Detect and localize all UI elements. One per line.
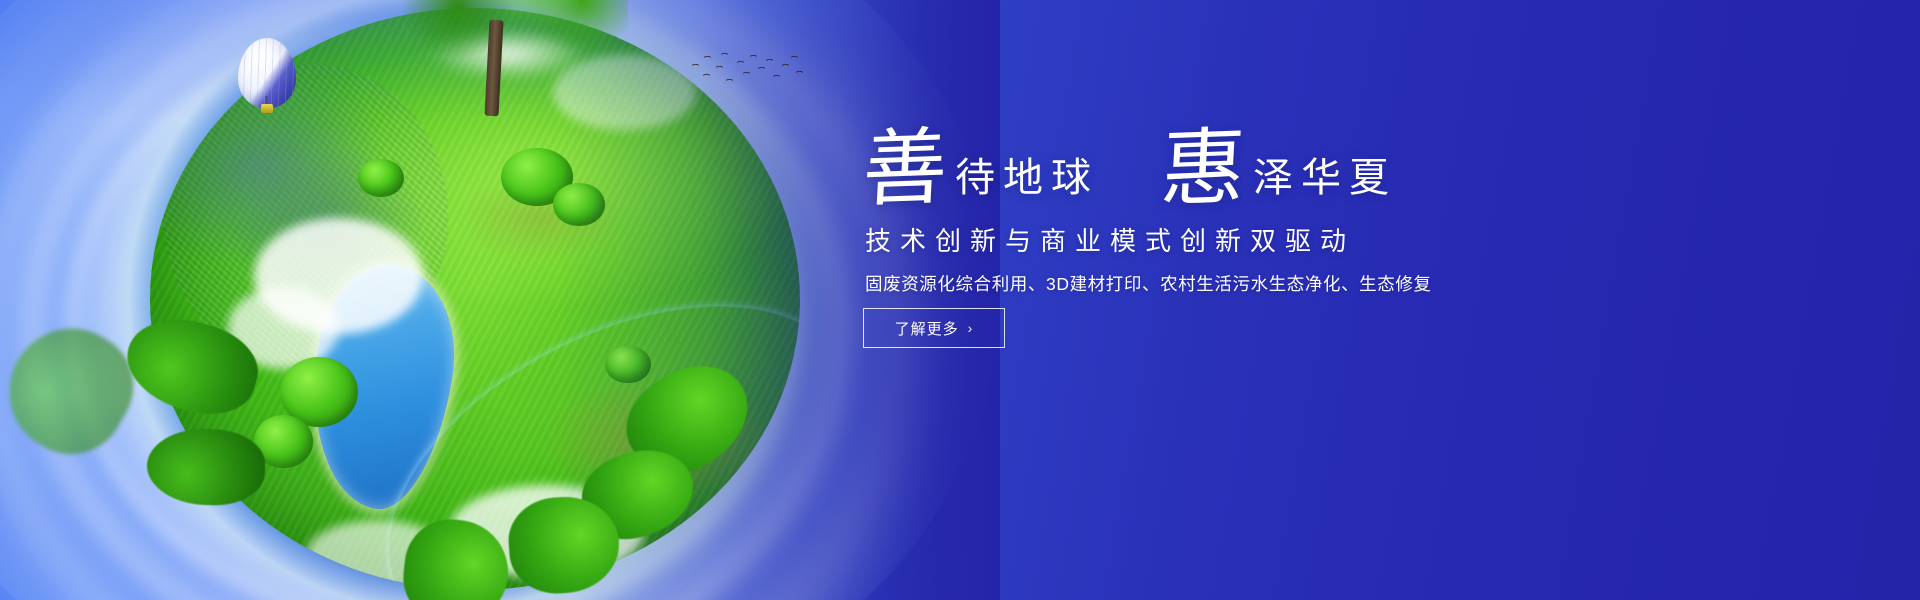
tiny-planet-artwork — [0, 0, 1000, 600]
bird-icon — [775, 75, 781, 79]
headline-char-shan: 善 — [861, 127, 952, 214]
hero-banner: 善 待地球 惠 泽华夏 技术创新与商业模式创新双驱动 固废资源化综合利用、3D建… — [0, 0, 1920, 600]
headline: 善 待地球 惠 泽华夏 — [863, 128, 1397, 232]
subtitle: 技术创新与商业模式创新双驱动 — [865, 228, 1355, 254]
description: 固废资源化综合利用、3D建材打印、农村生活污水生态净化、生态修复 — [865, 272, 1432, 297]
headline-rest-zehuaxia: 泽华夏 — [1253, 158, 1397, 198]
bird-icon — [723, 53, 729, 57]
bird-icon — [798, 71, 804, 75]
balloon-basket — [261, 104, 273, 113]
bird-icon — [793, 56, 799, 60]
chevron-right-icon: › — [968, 321, 974, 335]
bird-icon — [745, 72, 751, 76]
photo-right-blend — [0, 0, 1000, 600]
bird-icon — [768, 59, 774, 63]
bird-icon — [739, 61, 745, 65]
headline-char-hui: 惠 — [1159, 127, 1250, 214]
large-tree-canopy — [398, 0, 628, 64]
learn-more-button[interactable]: 了解更多 › — [863, 308, 1005, 348]
bird-icon — [752, 55, 758, 59]
hero-content: 善 待地球 惠 泽华夏 技术创新与商业模式创新双驱动 固废资源化综合利用、3D建… — [863, 0, 1763, 600]
bird-icon — [760, 67, 766, 71]
bird-icon — [705, 74, 711, 78]
bird-flock-icon — [690, 50, 810, 94]
hot-air-balloon-icon — [238, 38, 296, 108]
headline-rest-daidiqiu: 待地球 — [955, 158, 1099, 198]
bird-icon — [694, 64, 700, 68]
bird-icon — [706, 56, 712, 60]
bird-icon — [718, 66, 724, 70]
bird-icon — [728, 79, 734, 83]
learn-more-label: 了解更多 — [895, 318, 959, 339]
bird-icon — [784, 64, 790, 68]
